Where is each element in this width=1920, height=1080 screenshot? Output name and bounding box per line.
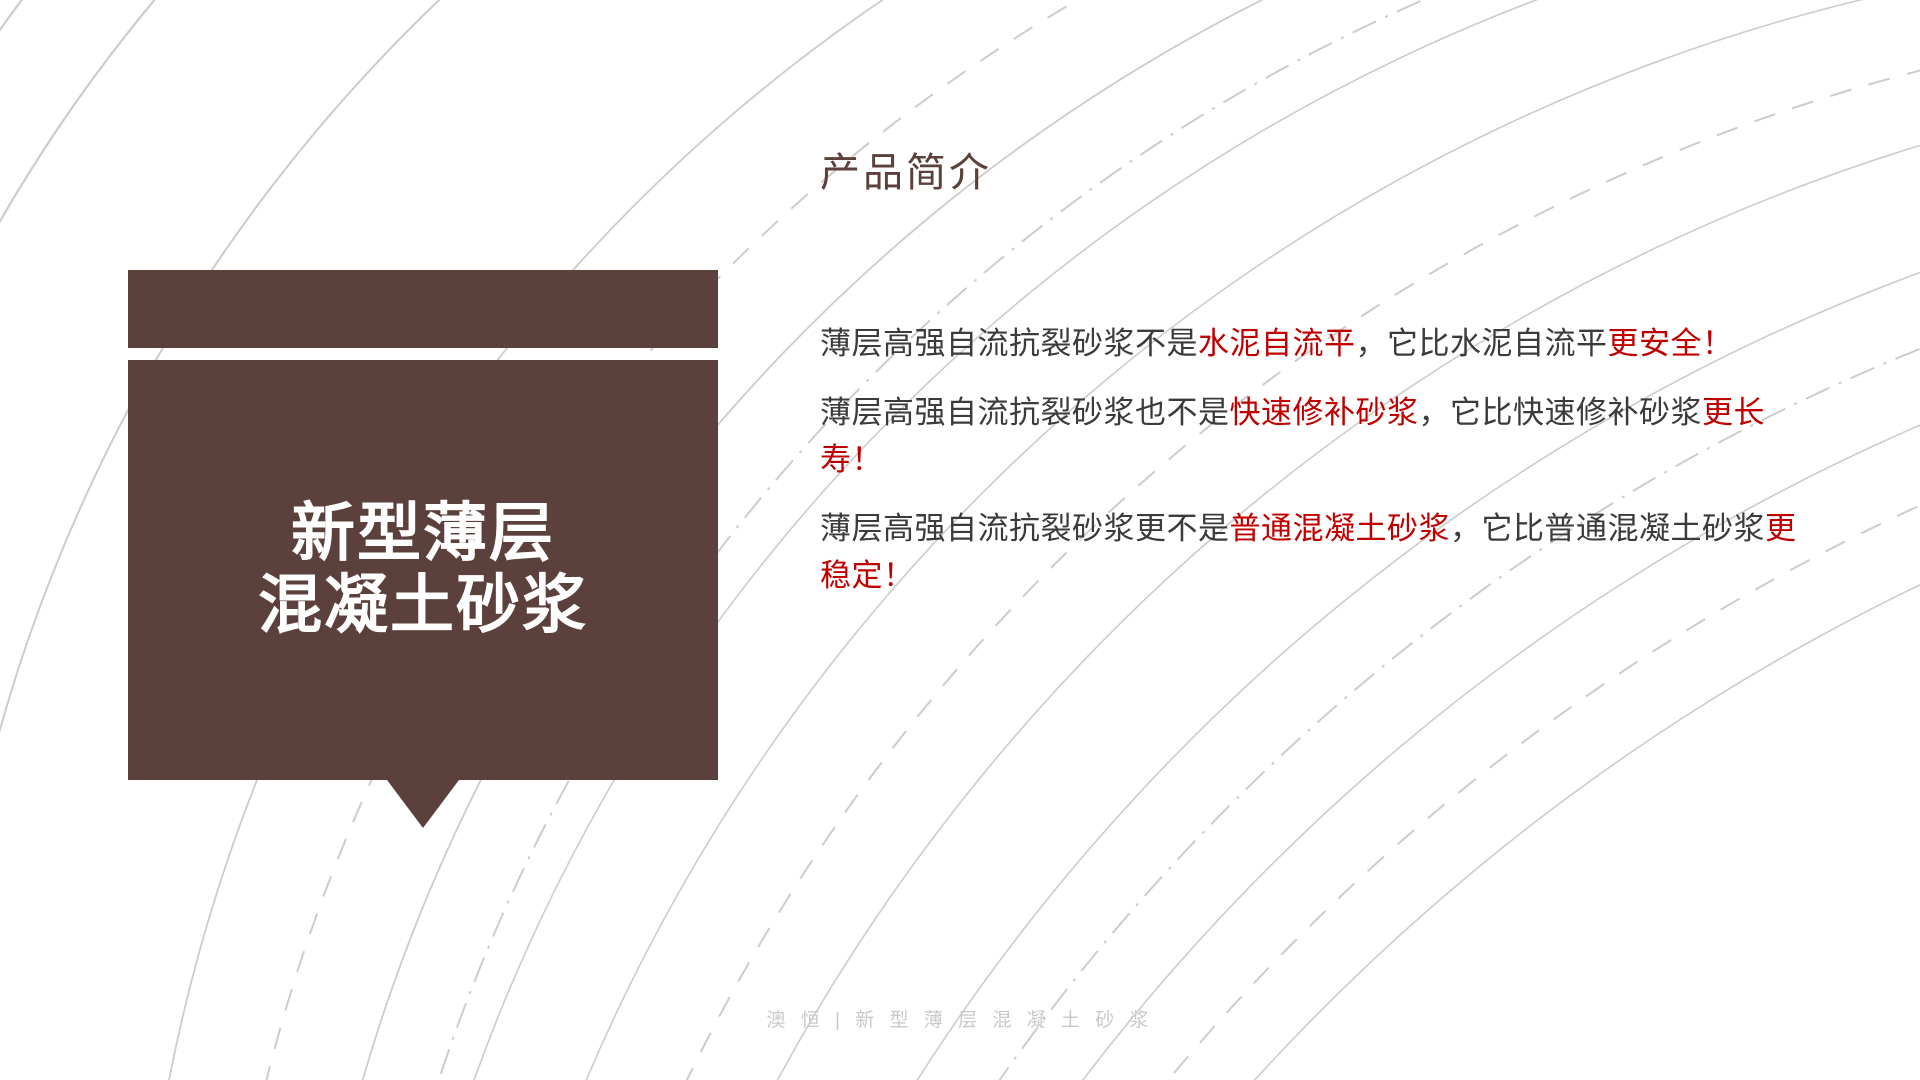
paragraph-highlight: 更安全！ [1608,326,1734,361]
paragraph: 薄层高强自流抗裂砂浆不是水泥自流平，它比水泥自流平更安全！ [820,320,1820,367]
paragraph-text: 薄层高强自流抗裂砂浆也不是 [820,395,1230,430]
product-callout-card: 新型薄层 混凝土砂浆 [128,270,718,780]
section-title: 产品简介 [820,140,1820,198]
paragraph-text: ，它比普通混凝土砂浆 [1450,511,1765,546]
paragraph: 薄层高强自流抗裂砂浆也不是快速修补砂浆，它比快速修补砂浆更长寿！ [820,389,1820,483]
paragraph-list: 薄层高强自流抗裂砂浆不是水泥自流平，它比水泥自流平更安全！ 薄层高强自流抗裂砂浆… [820,320,1820,600]
card-title: 新型薄层 混凝土砂浆 [258,498,588,641]
card-divider-gap [128,348,718,360]
footer-brand-line: 澳 恒 | 新 型 薄 层 混 凝 土 砂 浆 [0,1005,1920,1032]
slide-canvas: 新型薄层 混凝土砂浆 产品简介 薄层高强自流抗裂砂浆不是水泥自流平，它比水泥自流… [0,0,1920,1080]
paragraph-highlight: 普通混凝土砂浆 [1230,511,1451,546]
paragraph-text: 薄层高强自流抗裂砂浆更不是 [820,511,1230,546]
card-pointer-triangle [387,780,459,828]
paragraph-text: ，它比水泥自流平 [1356,326,1608,361]
content-column: 产品简介 薄层高强自流抗裂砂浆不是水泥自流平，它比水泥自流平更安全！ 薄层高强自… [820,140,1820,600]
paragraph-highlight: 水泥自流平 [1198,326,1356,361]
card-body: 新型薄层 混凝土砂浆 [128,360,718,780]
paragraph-highlight: 快速修补砂浆 [1230,395,1419,430]
paragraph: 薄层高强自流抗裂砂浆更不是普通混凝土砂浆，它比普通混凝土砂浆更稳定！ [820,505,1820,599]
paragraph-text: 薄层高强自流抗裂砂浆不是 [820,326,1198,361]
card-top-bar [128,270,718,348]
paragraph-text: ，它比快速修补砂浆 [1419,395,1703,430]
